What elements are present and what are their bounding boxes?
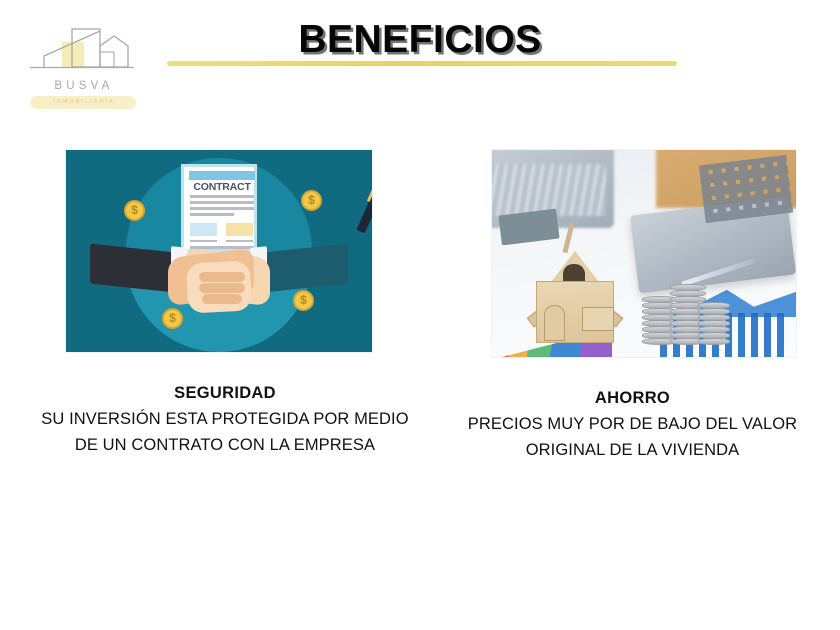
slide-canvas: BUSVA INMOBILIARIA BENEFICIOS CONTRACT [0, 0, 840, 630]
benefit-title: SEGURIDAD [30, 380, 420, 406]
laptop-keyboard [492, 164, 606, 216]
dollar-coin-icon: $ [162, 308, 183, 329]
dollar-coin-icon: $ [124, 200, 145, 221]
benefit-title: AHORRO [455, 385, 810, 411]
handshake-contract-illustration: CONTRACT [66, 150, 372, 352]
benefit-body: SU INVERSIÓN ESTA PROTEGIDA POR MEDIO DE… [30, 406, 420, 458]
house-model-coins-calculator-photo [492, 150, 796, 357]
title-underline-rule [167, 61, 677, 66]
photo-scene [492, 150, 796, 357]
benefit-caption: SEGURIDAD SU INVERSIÓN ESTA PROTEGIDA PO… [30, 380, 420, 458]
house-attic-window [563, 264, 585, 281]
finger [199, 283, 245, 293]
dollar-coin-icon: $ [293, 290, 314, 311]
finger [199, 272, 245, 282]
finger [202, 294, 242, 304]
contract-document-icon: CONTRACT [181, 164, 257, 252]
wooden-house-model [522, 225, 628, 343]
benefit-card-seguridad: CONTRACT [30, 150, 420, 458]
contract-field-b [226, 223, 253, 236]
logo-wordmark: BUSVA [22, 80, 142, 92]
page-title: BENEFICIOS [0, 18, 840, 62]
contract-field-a [190, 223, 217, 236]
logo-subtitle: INMOBILIARIA [30, 97, 136, 108]
house-window [582, 307, 614, 331]
benefit-card-ahorro: AHORRO PRECIOS MUY POR DE BAJO DEL VALOR… [455, 150, 810, 463]
contract-label: CONTRACT [184, 181, 260, 193]
house-door [544, 305, 565, 341]
house-chimney [562, 223, 574, 253]
contract-header-bar [189, 171, 255, 180]
coin-stack [698, 299, 730, 345]
calculator-keypad [699, 155, 793, 223]
dollar-coin-icon: $ [301, 190, 322, 211]
benefit-body: PRECIOS MUY POR DE BAJO DEL VALOR ORIGIN… [455, 411, 810, 463]
benefit-caption: AHORRO PRECIOS MUY POR DE BAJO DEL VALOR… [455, 385, 810, 463]
